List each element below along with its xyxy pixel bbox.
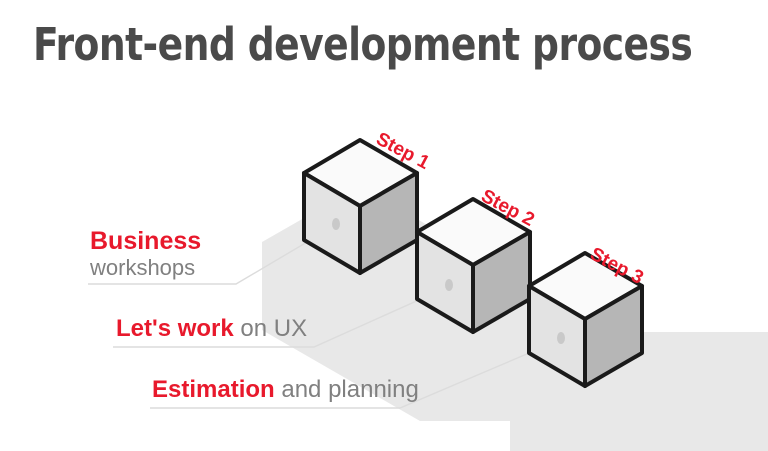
cube-1-marker-dot	[332, 218, 340, 230]
callout-3-strong: Estimation	[152, 376, 275, 403]
callout-2-strong: Let's work	[116, 315, 234, 342]
callout-2-plain: on UX	[234, 315, 307, 342]
callout-3-plain: and planning	[275, 376, 419, 403]
cube-2-marker-dot	[445, 279, 453, 291]
callout-lets-work-on-ux: Let's work on UX	[116, 316, 307, 341]
cube-3-marker-dot	[557, 332, 565, 344]
page-title: Front-end development process	[33, 18, 692, 71]
callout-1-plain: workshops	[90, 256, 201, 279]
callout-business-workshops: Business workshops	[90, 228, 201, 279]
callout-estimation-and-planning: Estimation and planning	[152, 377, 419, 402]
slide-canvas: Front-end development process Step 1 Ste…	[0, 0, 768, 451]
callout-1-strong: Business	[90, 227, 201, 255]
